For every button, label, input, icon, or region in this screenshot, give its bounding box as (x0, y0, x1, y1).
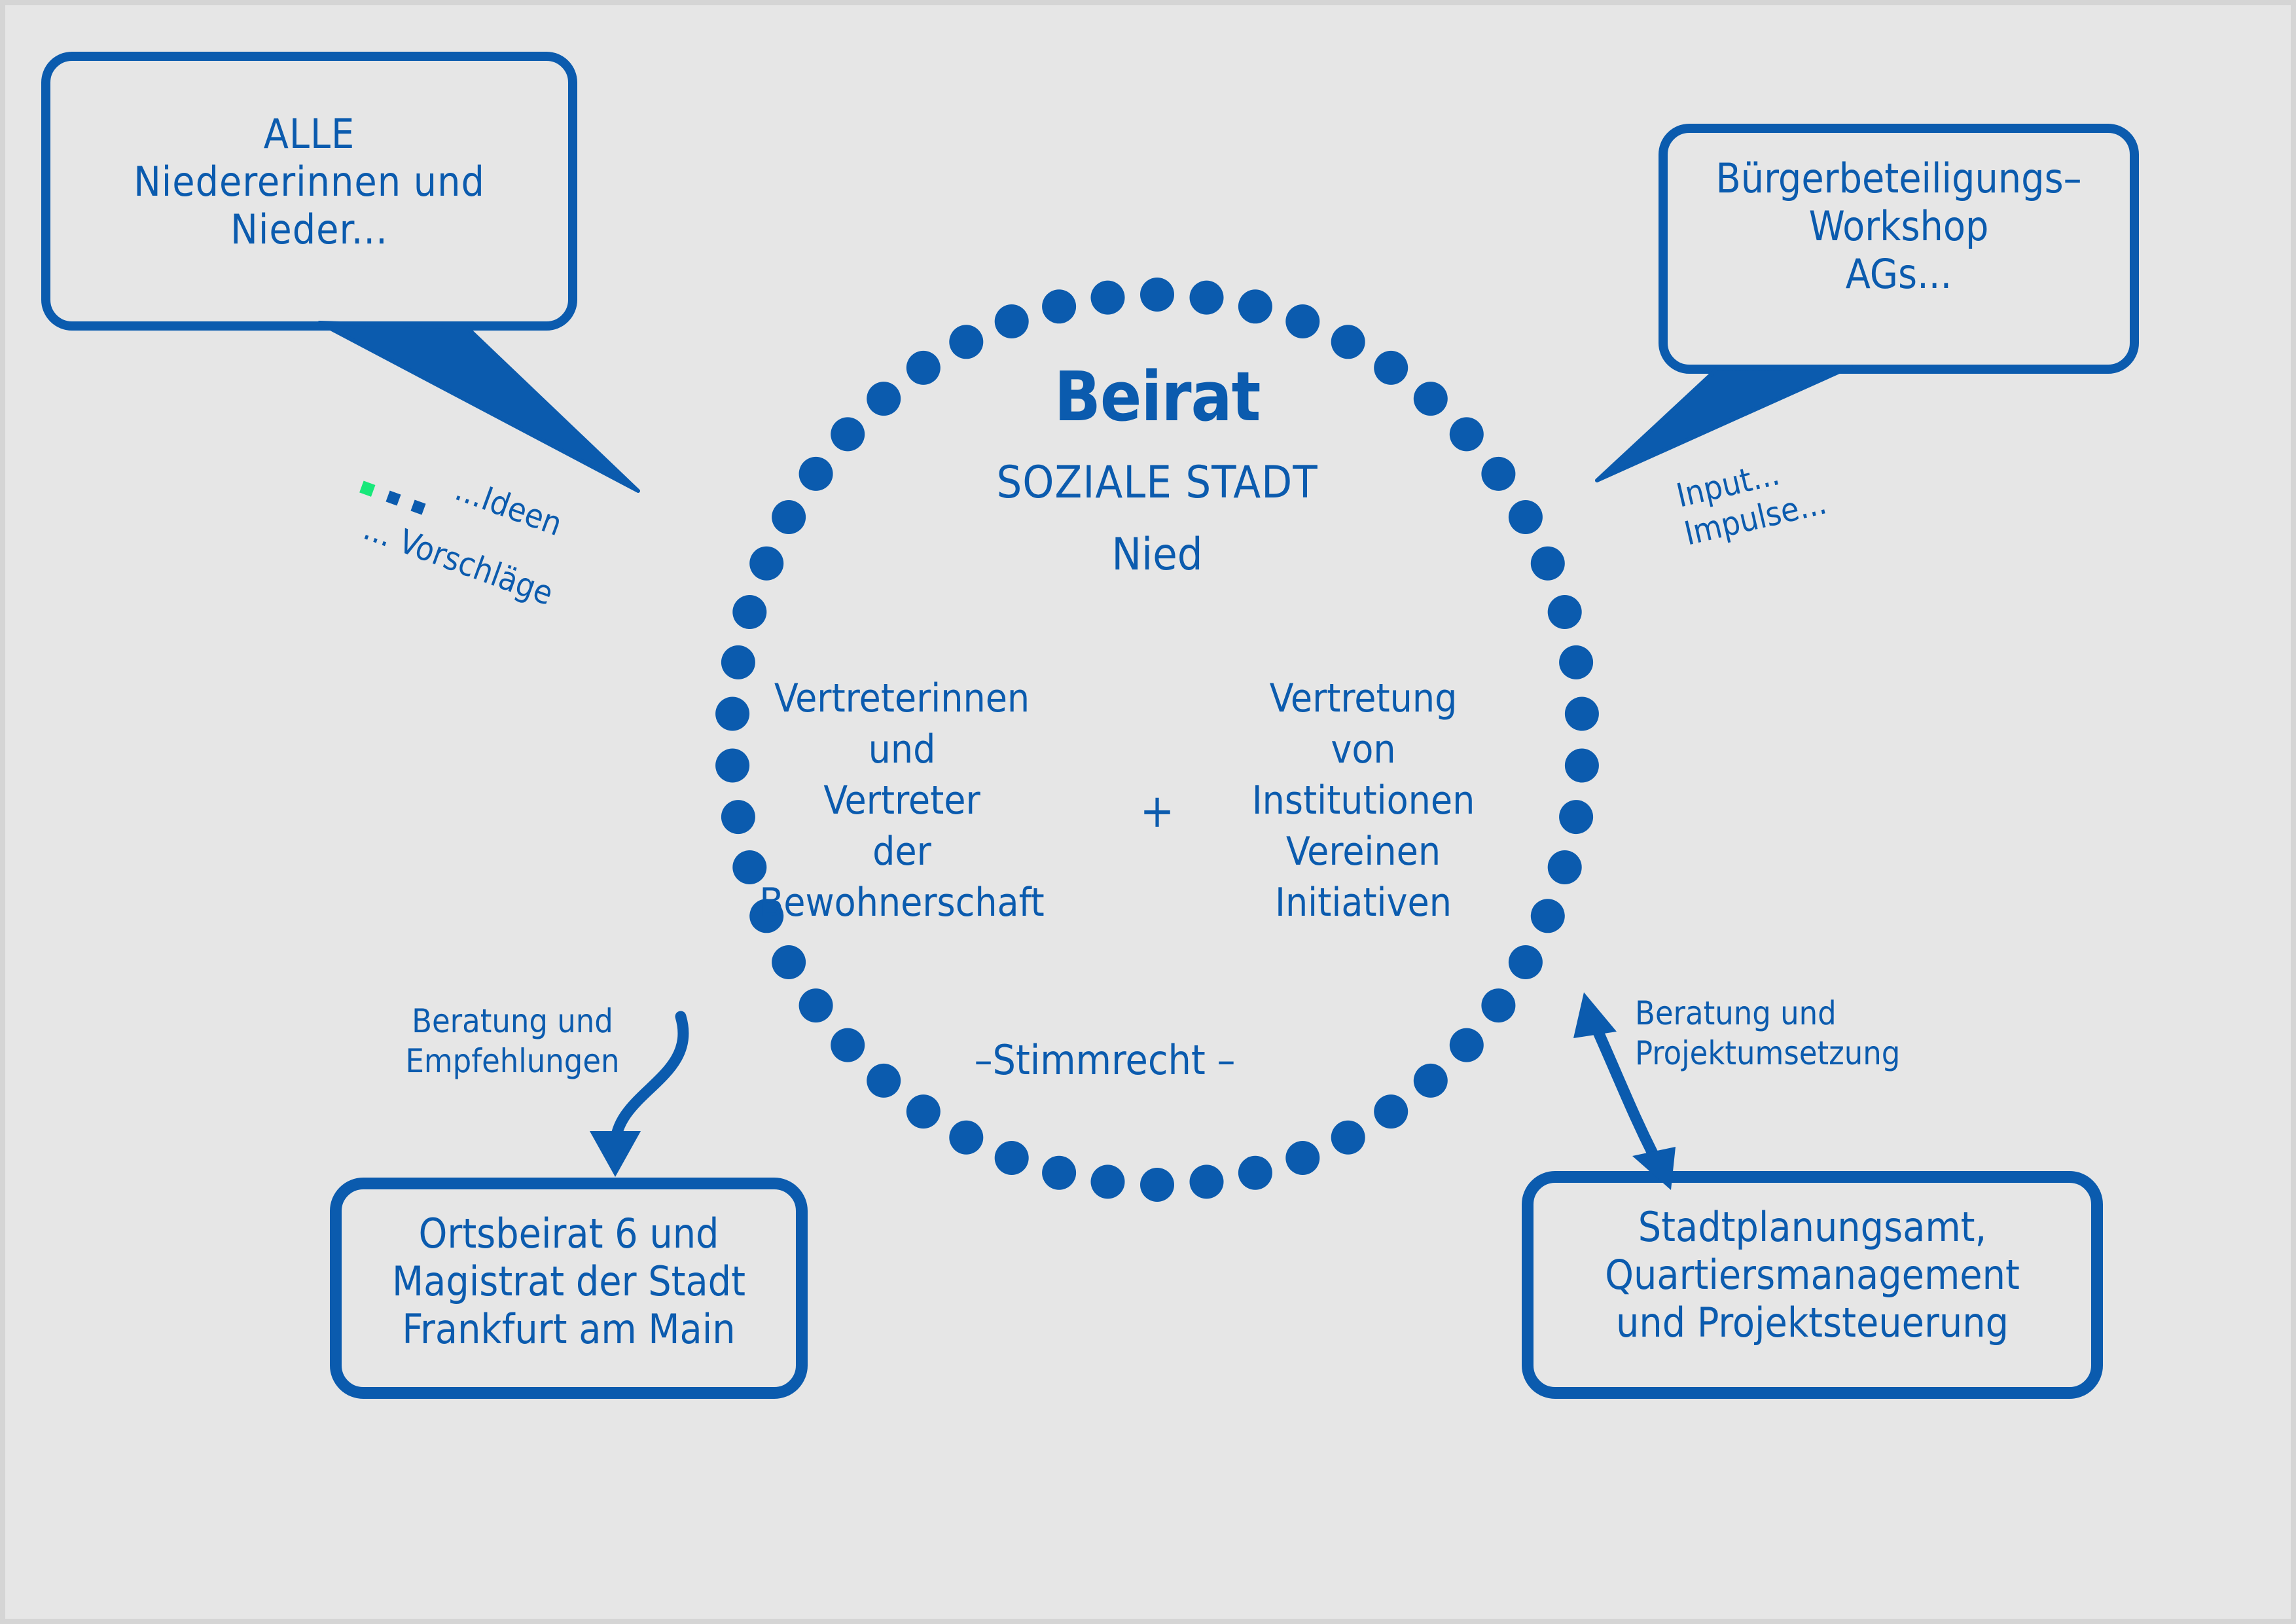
circle-dot (1285, 304, 1319, 338)
circle-dot (721, 800, 755, 834)
arrow-left-advice (590, 1017, 683, 1177)
ellipsis-dots-left (359, 480, 425, 514)
circle-dot (995, 304, 1029, 338)
circle-dot (949, 1121, 983, 1155)
circle-dot (831, 1028, 865, 1062)
diagram-vector-layer (5, 5, 2291, 1619)
circle-dot (1559, 800, 1593, 834)
circle-dot (749, 547, 783, 581)
circle-dot (867, 382, 901, 416)
circle-dot (1331, 1121, 1365, 1155)
circle-dot (715, 697, 749, 731)
circle-dot (906, 351, 941, 385)
circle-dot (1042, 1156, 1076, 1190)
circle-dot (1091, 1164, 1125, 1199)
circle-dot (732, 595, 766, 629)
circle-dot (732, 850, 766, 884)
circle-dot (715, 749, 749, 783)
circle-dot (1531, 547, 1565, 581)
circle-dot (1481, 988, 1515, 1022)
circle-dot (1450, 417, 1484, 451)
circle-dot (1285, 1141, 1319, 1175)
circle-dot (1414, 382, 1448, 416)
circle-dot (749, 899, 783, 933)
circle-dot (1374, 351, 1408, 385)
circle-dot (1414, 1064, 1448, 1098)
circle-dot (1565, 749, 1599, 783)
circle-dot (995, 1141, 1029, 1175)
circle-dot (1565, 697, 1599, 731)
circle-dot (1238, 289, 1272, 323)
circle-dot (772, 500, 806, 534)
green-accent-dot (359, 480, 375, 496)
circle-dot (1190, 281, 1224, 315)
circle-dot (831, 417, 865, 451)
circle-dot (1140, 278, 1174, 312)
circle-dot (1548, 850, 1582, 884)
circle-dot (1042, 289, 1076, 323)
circle-dot (1559, 645, 1593, 679)
circle-dot (799, 457, 833, 491)
arrow-right-advice (1573, 992, 1676, 1190)
circle-dot (867, 1064, 901, 1098)
circle-dot (772, 945, 806, 979)
diagram-canvas: ALLE Niedererinnen und Nieder... Bürgerb… (5, 5, 2291, 1619)
circle-dot (1548, 595, 1582, 629)
circle-dot (1374, 1094, 1408, 1128)
bubble-top-left-tail (319, 323, 638, 491)
circle-dot (1481, 457, 1515, 491)
circle-dot (1531, 899, 1565, 933)
box-bottom-left[interactable] (336, 1183, 802, 1393)
circle-dot (906, 1094, 941, 1128)
box-bottom-right[interactable] (1528, 1177, 2097, 1393)
bubble-top-right-body (1663, 128, 2134, 369)
circle-dot (1331, 325, 1365, 359)
circle-dot (1509, 500, 1543, 534)
circle-dot (949, 325, 983, 359)
circle-dot (1091, 281, 1125, 315)
bubble-top-right-tail (1597, 367, 1851, 480)
circle-dot (799, 988, 833, 1022)
bubble-top-left-body (46, 56, 573, 326)
circle-dot (1238, 1156, 1272, 1190)
circle-dot (1509, 945, 1543, 979)
circle-dot (1140, 1168, 1174, 1202)
circle-dot (721, 645, 755, 679)
speech-bubble-top-right[interactable] (1597, 128, 2134, 480)
circle-dot (1450, 1028, 1484, 1062)
dotted-circle-beirat (715, 278, 1599, 1202)
circle-dot (1190, 1164, 1224, 1199)
speech-bubble-top-left[interactable] (46, 56, 638, 491)
